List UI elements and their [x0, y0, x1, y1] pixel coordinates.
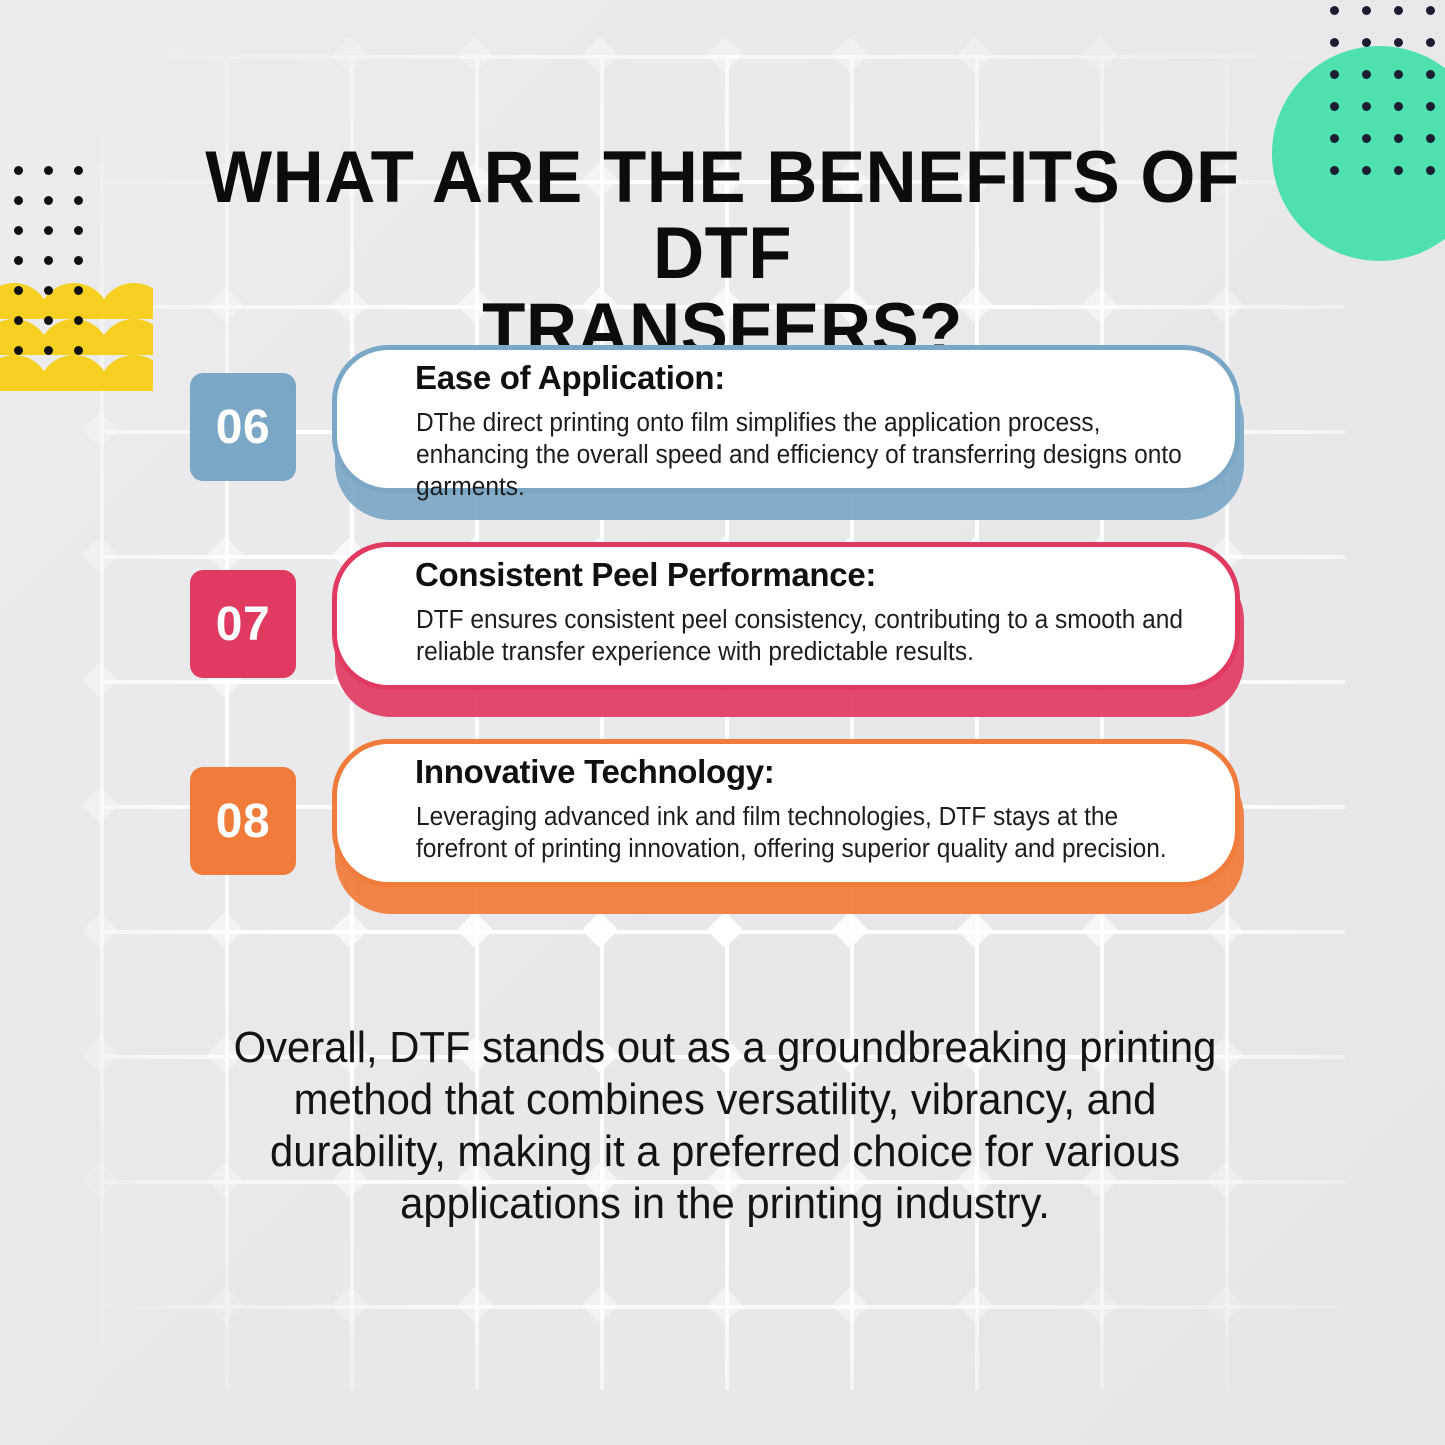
- benefit-card-06: Ease of Application: DThe direct printin…: [332, 345, 1244, 520]
- infographic-poster: WHAT ARE THE BENEFITS OF DTF TRANSFERS? …: [0, 0, 1445, 1445]
- benefit-row-07: 07 Consistent Peel Performance: DTF ensu…: [190, 542, 1265, 717]
- card-body-07: DTF ensures consistent peel consistency,…: [416, 604, 1184, 668]
- benefit-card-07: Consistent Peel Performance: DTF ensures…: [332, 542, 1244, 717]
- yellow-semicircle-decoration: [0, 283, 153, 393]
- benefit-card-08: Innovative Technology: Leveraging advanc…: [332, 739, 1244, 914]
- card-body-06: DThe direct printing onto film simplifie…: [416, 407, 1184, 503]
- benefit-row-08: 08 Innovative Technology: Leveraging adv…: [190, 739, 1265, 914]
- page-title: WHAT ARE THE BENEFITS OF DTF TRANSFERS?: [167, 140, 1278, 368]
- mint-circle-decoration: [1272, 46, 1445, 261]
- card-title-06: Ease of Application:: [415, 359, 725, 397]
- card-title-08: Innovative Technology:: [415, 753, 775, 791]
- card-title-07: Consistent Peel Performance:: [415, 556, 876, 594]
- number-badge-06: 06: [190, 373, 296, 481]
- summary-paragraph: Overall, DTF stands out as a groundbreak…: [212, 1022, 1238, 1230]
- benefit-row-06: 06 Ease of Application: DThe direct prin…: [190, 345, 1265, 520]
- number-badge-07: 07: [190, 570, 296, 678]
- page-title-line-1: WHAT ARE THE BENEFITS OF DTF: [205, 137, 1239, 294]
- card-body-08: Leveraging advanced ink and film technol…: [416, 801, 1184, 865]
- number-badge-08: 08: [190, 767, 296, 875]
